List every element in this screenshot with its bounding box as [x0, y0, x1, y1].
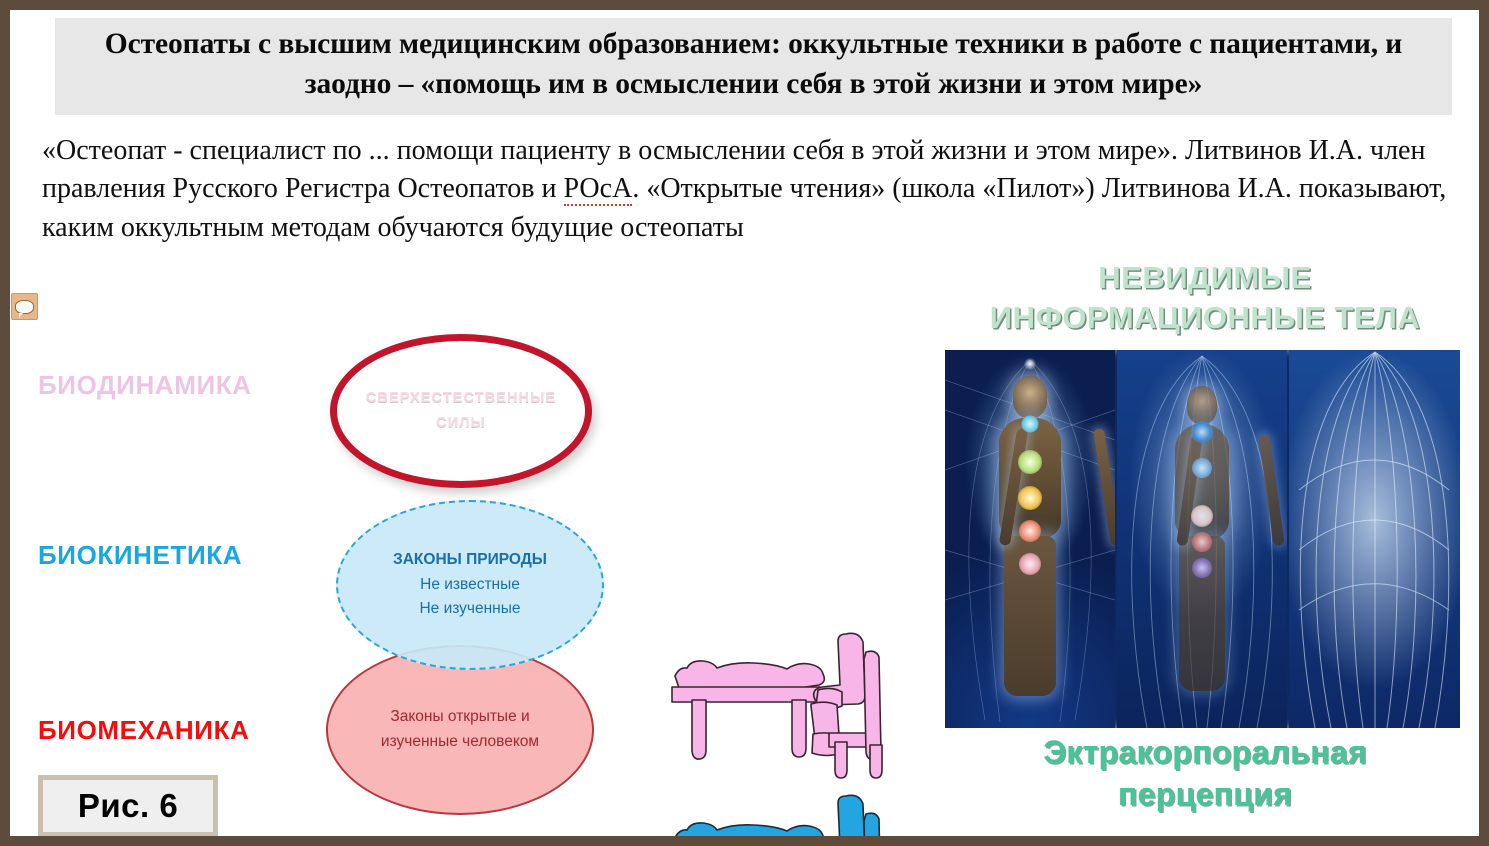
- ellipse-human-laws: Законы открытые и изученные человеком: [326, 645, 594, 815]
- slide-header-band: Остеопаты с высшим медицинским образован…: [55, 18, 1452, 115]
- three-level-diagram: БИОДИНАМИКА БИОКИНЕТИКА БИОМЕХАНИКА Зако…: [30, 310, 930, 830]
- energy-image-title-line2: ИНФОРМАЦИОННЫЕ ТЕЛА: [940, 298, 1470, 338]
- ellipse-supernatural-line1: СВЕРХЕСТЕСТВЕННЫЕ: [366, 386, 556, 411]
- ellipse-nature-laws: ЗАКОНЫ ПРИРОДЫ Не известные Не изученные: [336, 500, 604, 670]
- chakra-throat: [1191, 421, 1213, 443]
- ellipse-supernatural-line2: СИЛЫ: [436, 411, 486, 436]
- slide-canvas: Остеопаты с высшим медицинским образован…: [0, 0, 1489, 846]
- misspelled-word: РОсА: [564, 173, 633, 206]
- chakra-sacral: [1019, 520, 1041, 542]
- energy-bodies-image: [945, 350, 1460, 728]
- body-paragraph: «Остеопат - специалист по ... помощи пац…: [42, 132, 1452, 247]
- chakra-sacral: [1192, 532, 1212, 552]
- energy-panel-etheric-body: [1117, 350, 1287, 728]
- ellipse-nature-laws-line2: Не известные: [420, 573, 520, 598]
- category-label-biomechanics: БИОМЕХАНИКА: [38, 715, 249, 746]
- chakra-crown: [1024, 358, 1036, 370]
- aura-lines-panel3: [1289, 350, 1460, 728]
- energy-panel-field-web: [1289, 350, 1460, 728]
- page-title: Остеопаты с высшим медицинским образован…: [69, 25, 1438, 104]
- category-label-biodynamics: БИОДИНАМИКА: [38, 370, 252, 401]
- energy-image-title-line1: НЕВИДИМЫЕ: [940, 258, 1470, 298]
- ellipse-human-laws-line1: Законы открытые и: [390, 705, 529, 730]
- ellipse-nature-laws-line3: Не изученные: [419, 597, 520, 622]
- chakra-solar-plexus: [1018, 486, 1042, 510]
- chakra-heart: [1192, 458, 1212, 478]
- energy-image-caption-line2: перцепция: [945, 774, 1465, 816]
- body-head: [1013, 376, 1047, 418]
- ellipse-supernatural-forces: СВЕРХЕСТЕСТВЕННЫЕ СИЛЫ: [330, 334, 592, 488]
- chakra-throat: [1022, 416, 1039, 433]
- pictogram-practitioner-patient-pink: [670, 630, 920, 790]
- chakra-root: [1192, 558, 1212, 578]
- chakra-root: [1019, 553, 1041, 575]
- body-head: [1187, 386, 1217, 424]
- chakra-heart: [1018, 450, 1042, 474]
- pictogram-practitioner-patient-blue: [670, 792, 920, 846]
- energy-panel-physical-body: [945, 350, 1115, 728]
- energy-image-title: НЕВИДИМЫЕ ИНФОРМАЦИОННЫЕ ТЕЛА: [940, 258, 1470, 337]
- chakra-solar-plexus: [1191, 505, 1213, 527]
- category-label-biokinetics: БИОКИНЕТИКА: [38, 540, 242, 571]
- energy-image-caption: Эктракорпоральная перцепция: [945, 732, 1465, 815]
- ellipse-human-laws-line2: изученные человеком: [381, 730, 539, 755]
- energy-image-caption-line1: Эктракорпоральная: [945, 732, 1465, 774]
- figure-number-badge: Рис. 6: [38, 775, 218, 837]
- pictogram-group: [670, 630, 940, 846]
- figure-number-label: Рис. 6: [78, 787, 178, 825]
- ellipse-nature-laws-line1: ЗАКОНЫ ПРИРОДЫ: [393, 548, 547, 573]
